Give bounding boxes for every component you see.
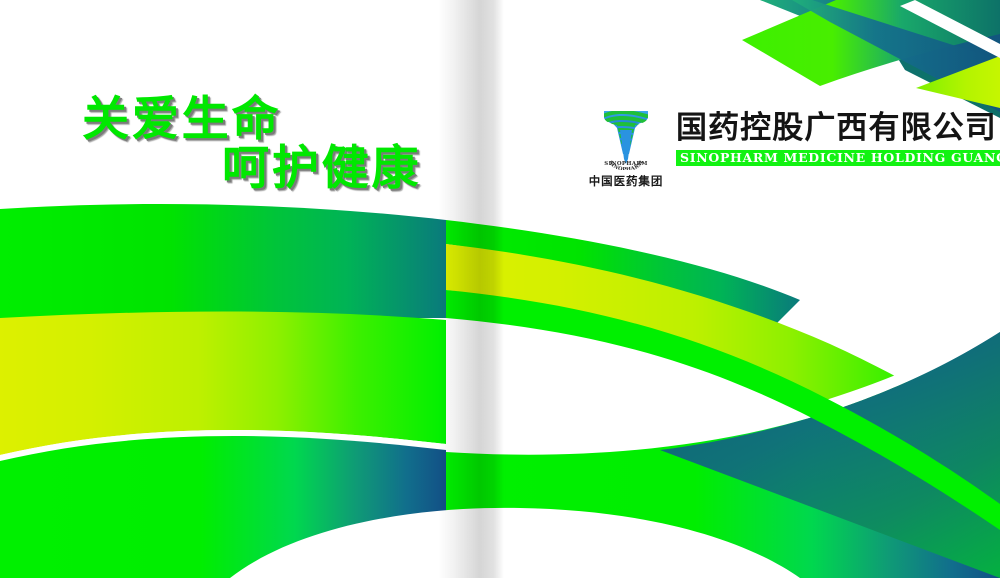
company-name-block: 国药控股广西有限公司 SINOPHARM MEDICINE HOLDING GU… [676,100,1000,166]
cover-artwork [0,0,1000,578]
sinopharm-chalice-logo-icon: SINOPHARM SINOPHARM [595,104,657,170]
company-lockup: SINOPHARM SINOPHARM 中国医药集团 国药控股广西有限公司 SI… [578,100,1000,189]
logo-block: SINOPHARM SINOPHARM 中国医药集团 [578,100,674,189]
slogan-line-one: 关爱生命 [82,96,281,143]
logo-ring-text-lower: SINOPHARM [604,161,647,167]
slogan-line-two: 呵护健康 [222,145,421,192]
company-name-chinese: 国药控股广西有限公司 [676,112,1000,145]
logo-group-name-cn: 中国医药集团 [589,173,664,189]
left-band-upper-green [0,204,446,318]
brochure-cover: 关爱生命 呵护健康 [0,0,1000,578]
company-name-english: SINOPHARM MEDICINE HOLDING GUANGXI CO.,L… [680,151,1000,165]
svg-text:SINOPHARM: SINOPHARM [604,161,647,167]
company-name-english-bar: SINOPHARM MEDICINE HOLDING GUANGXI CO.,L… [676,150,1000,167]
